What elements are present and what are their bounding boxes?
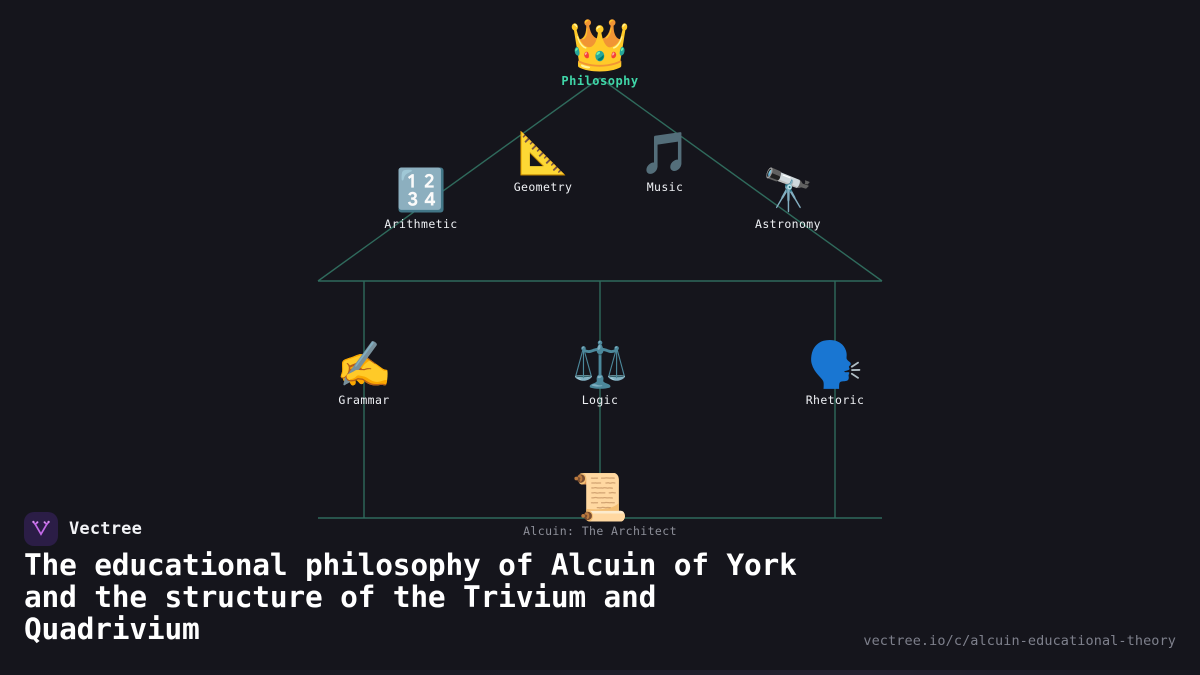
node-label-alcuin: Alcuin: The Architect (523, 524, 677, 538)
musical-note-icon: 🎵 (639, 133, 690, 174)
balance-scale-icon: ⚖️ (572, 342, 628, 387)
writing-hand-icon: ✍️ (336, 342, 392, 387)
bottom-accent-bar (0, 670, 1200, 675)
node-label-arithmetic: Arithmetic (384, 217, 457, 231)
node-label-grammar: Grammar (338, 393, 389, 407)
telescope-icon: 🔭 (762, 170, 813, 211)
input-numbers-icon: 🔢 (395, 170, 446, 211)
node-rhetoric[interactable]: 🗣️ Rhetoric (806, 342, 865, 407)
node-philosophy[interactable]: 👑 Philosophy (561, 20, 638, 88)
triangular-ruler-icon: 📐 (517, 133, 568, 174)
scroll-icon: 📜 (571, 474, 628, 520)
node-arithmetic[interactable]: 🔢 Arithmetic (384, 170, 457, 231)
node-label-astronomy: Astronomy (755, 217, 821, 231)
page-title: The educational philosophy of Alcuin of … (24, 549, 844, 645)
node-music[interactable]: 🎵 Music (639, 133, 690, 194)
node-label-philosophy: Philosophy (561, 74, 638, 88)
brand-name: Vectree (69, 519, 142, 539)
node-geometry[interactable]: 📐 Geometry (514, 133, 573, 194)
share-card-canvas: 👑 Philosophy 🔢 Arithmetic 📐 Geometry 🎵 M… (0, 0, 1200, 675)
speaking-head-icon: 🗣️ (807, 342, 863, 387)
permalink-url: vectree.io/c/alcuin-educational-theory (863, 633, 1176, 649)
node-label-rhetoric: Rhetoric (806, 393, 865, 407)
crown-icon: 👑 (569, 20, 631, 70)
node-grammar[interactable]: ✍️ Grammar (336, 342, 392, 407)
node-astronomy[interactable]: 🔭 Astronomy (755, 170, 821, 231)
node-logic[interactable]: ⚖️ Logic (572, 342, 628, 407)
node-label-logic: Logic (582, 393, 619, 407)
node-label-music: Music (647, 180, 684, 194)
node-label-geometry: Geometry (514, 180, 573, 194)
brand-lockup: Vectree (24, 512, 142, 546)
vectree-logo-icon (24, 512, 58, 546)
node-alcuin[interactable]: 📜 Alcuin: The Architect (523, 474, 677, 538)
